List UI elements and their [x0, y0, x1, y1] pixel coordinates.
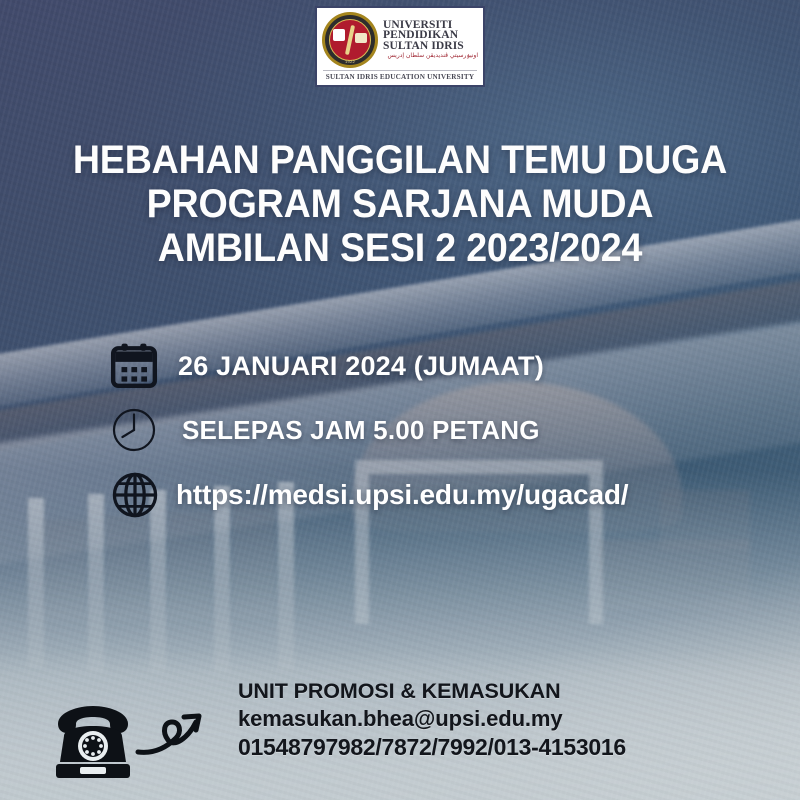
headline-line-3: AMBILAN SESI 2 2023/2024: [35, 226, 764, 270]
info-time-text: SELEPAS JAM 5.00 PETANG: [182, 415, 540, 446]
globe-icon: [108, 468, 162, 522]
crest-year: 1922: [322, 59, 378, 64]
curly-arrow-icon: [138, 716, 199, 752]
contact-email[interactable]: kemasukan.bhea@upsi.edu.my: [238, 705, 626, 733]
contact-illustration: [38, 700, 218, 786]
info-date-text: 26 JANUARI 2024 (JUMAAT): [178, 351, 544, 382]
clock-icon: [108, 404, 160, 456]
poster-announcement: 1922 UNIVERSITI PENDIDIKAN SULTAN IDRIS …: [0, 0, 800, 800]
contact-phones[interactable]: 01548797982/7872/7992/013-4153016: [238, 733, 626, 762]
headline-line-1: HEBAHAN PANGGILAN TEMU DUGA: [35, 138, 764, 182]
page-title: HEBAHAN PANGGILAN TEMU DUGA PROGRAM SARJ…: [24, 138, 776, 270]
upsi-crest-icon: 1922: [322, 12, 378, 68]
contact-block: UNIT PROMOSI & KEMASUKAN kemasukan.bhea@…: [238, 678, 626, 762]
info-list: 26 JANUARI 2024 (JUMAAT) SELEPAS JAM 5.0…: [108, 340, 768, 534]
rotary-telephone-icon: [56, 706, 130, 778]
calendar-icon: [108, 340, 160, 392]
logo-subtitle: SULTAN IDRIS EDUCATION UNIVERSITY: [322, 73, 478, 82]
logo-divider: [323, 70, 477, 71]
info-row-time: SELEPAS JAM 5.00 PETANG: [108, 404, 768, 456]
info-row-date: 26 JANUARI 2024 (JUMAAT): [108, 340, 768, 392]
logo-line-3: SULTAN IDRIS: [383, 41, 478, 52]
headline-line-2: PROGRAM SARJANA MUDA: [35, 182, 764, 226]
logo-jawi-script: اونيۏرسيتي ڤنديديقن سلطان إدريس: [383, 52, 478, 60]
upsi-logo: 1922 UNIVERSITI PENDIDIKAN SULTAN IDRIS …: [315, 6, 485, 87]
info-row-url[interactable]: https://medsi.upsi.edu.my/ugacad/: [108, 468, 768, 522]
info-url-text[interactable]: https://medsi.upsi.edu.my/ugacad/: [176, 479, 628, 511]
contact-unit: UNIT PROMOSI & KEMASUKAN: [238, 678, 626, 705]
